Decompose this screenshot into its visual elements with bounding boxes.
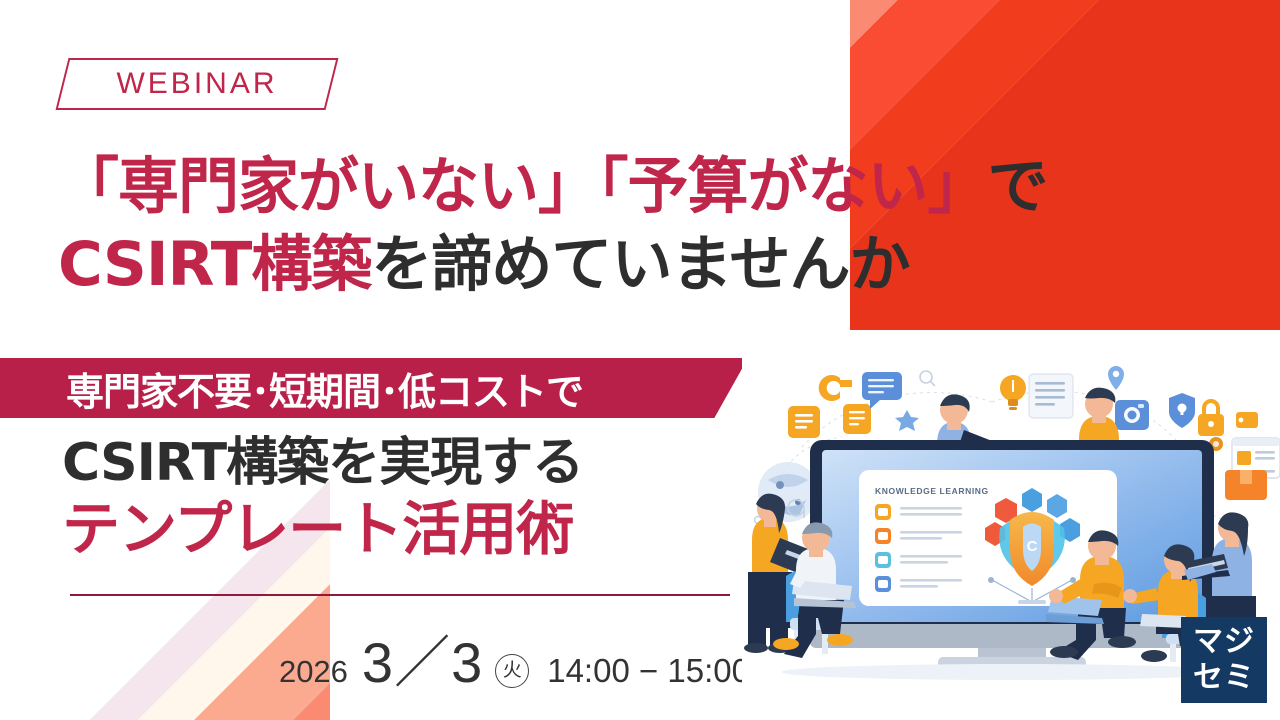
headline-line-1-tail: で — [988, 151, 1048, 222]
headline-accent-no-budget: 「予算がない」 — [598, 151, 988, 222]
logo-line-1: マジ — [1193, 624, 1255, 660]
divider-rule — [70, 594, 730, 596]
headline-line-1: 「専門家がいない」「予算がない」で — [58, 148, 1238, 226]
logo-line-2: セミ — [1193, 660, 1255, 696]
headline-line-2-tail: を諦めていませんか — [371, 229, 909, 300]
majisemi-logo: マジ セミ — [1181, 617, 1267, 703]
sub-banner-label: 専門家不要･短期間･低コストで — [66, 358, 583, 418]
svg-text:C: C — [1027, 538, 1038, 555]
event-year: 2026 — [279, 654, 348, 690]
subtitle: CSIRT構築を実現する テンプレート活用術 — [62, 432, 762, 564]
event-datetime: 2026 3／3 火 14:00 − 15:00 — [70, 618, 750, 688]
headline-accent-no-expert: 「専門家がいない」 — [58, 151, 598, 222]
event-weekday-badge: 火 — [495, 654, 529, 688]
webinar-banner: WEBINAR 「専門家がいない」「予算がない」で CSIRT構築を諦めていませ… — [0, 0, 1280, 720]
sub-banner: 専門家不要･短期間･低コストで — [0, 358, 748, 418]
subtitle-line-2: テンプレート活用術 — [62, 494, 762, 564]
event-time-range: 14:00 − 15:00 — [547, 652, 750, 690]
headline-line-2: CSIRT構築を諦めていませんか — [58, 226, 1238, 304]
headline-accent-csirt: CSIRT構築 — [58, 229, 371, 300]
page-title: 「専門家がいない」「予算がない」で CSIRT構築を諦めていませんか — [58, 148, 1238, 304]
webinar-badge-label: WEBINAR — [62, 58, 332, 110]
svg-text:KNOWLEDGE LEARNING: KNOWLEDGE LEARNING — [875, 486, 989, 496]
webinar-badge: WEBINAR — [62, 58, 332, 110]
subtitle-line-1: CSIRT構築を実現する — [62, 432, 762, 494]
event-day: 3／3 — [362, 618, 483, 699]
